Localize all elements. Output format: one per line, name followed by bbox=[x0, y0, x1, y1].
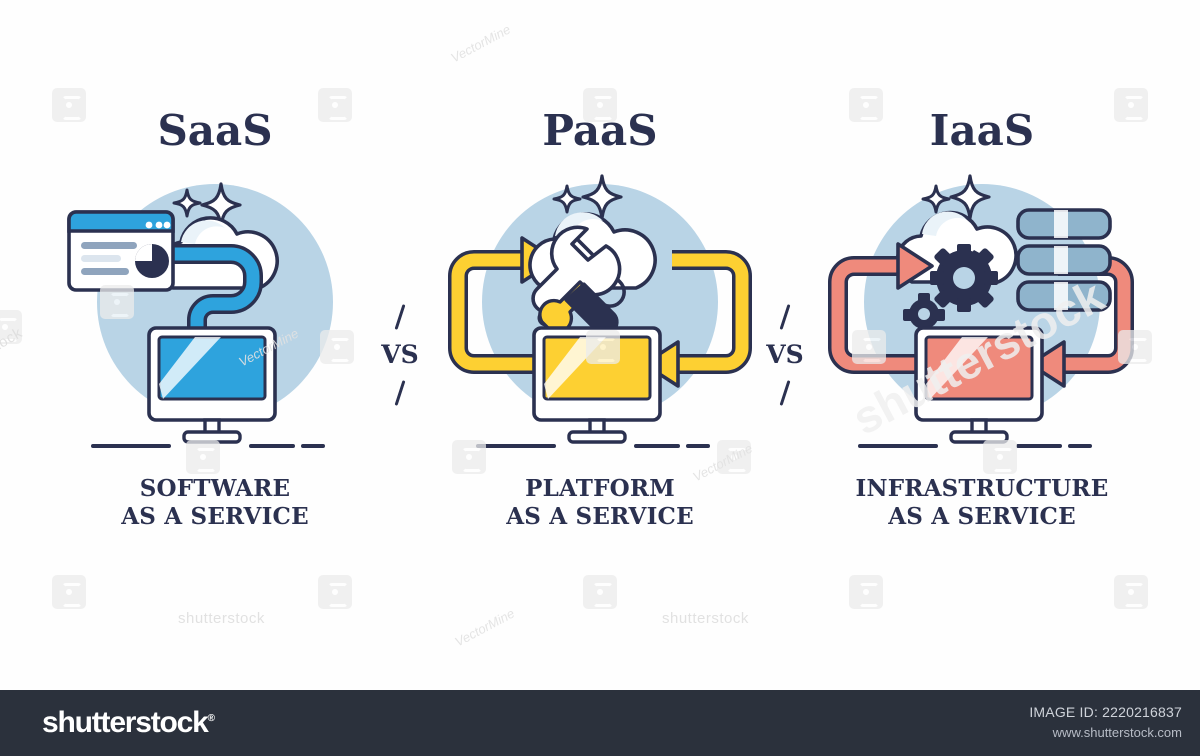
website-url: www.shutterstock.com bbox=[1029, 725, 1182, 740]
caption-line-2: AS A SERVICE bbox=[812, 503, 1152, 531]
diagram-content: SaaS bbox=[0, 0, 1200, 690]
panel-caption-saas: SOFTWARE AS A SERVICE bbox=[45, 475, 385, 531]
panel-caption-paas: PLATFORM AS A SERVICE bbox=[430, 475, 770, 531]
panel-title-iaas: IaaS bbox=[812, 110, 1152, 152]
server-stack-icon bbox=[1018, 210, 1110, 310]
browser-window-icon bbox=[69, 212, 173, 290]
separator-vs-1: VS bbox=[365, 300, 435, 410]
iaas-illustration bbox=[812, 162, 1152, 462]
panel-saas: SaaS bbox=[45, 110, 385, 580]
footer-bar: shutterstock® IMAGE ID: 2220216837 www.s… bbox=[0, 690, 1200, 756]
paas-illustration bbox=[430, 162, 770, 462]
illustration-canvas: SaaS bbox=[0, 0, 1200, 756]
separator-vs-2: VS bbox=[750, 300, 820, 410]
logo-text: shutterstock bbox=[42, 706, 208, 739]
panel-title-paas: PaaS bbox=[430, 110, 770, 152]
saas-illustration bbox=[45, 162, 385, 462]
footer-meta: IMAGE ID: 2220216837 www.shutterstock.co… bbox=[1029, 704, 1182, 740]
panel-title-saas: SaaS bbox=[45, 110, 385, 152]
image-id-label: IMAGE ID: 2220216837 bbox=[1029, 704, 1182, 720]
caption-line-2: AS A SERVICE bbox=[430, 503, 770, 531]
caption-line-2: AS A SERVICE bbox=[45, 503, 385, 531]
caption-line-1: INFRASTRUCTURE bbox=[812, 475, 1152, 503]
shutterstock-logo: shutterstock® bbox=[42, 706, 215, 740]
registered-mark: ® bbox=[208, 713, 215, 724]
caption-line-1: SOFTWARE bbox=[45, 475, 385, 503]
panel-iaas: IaaS bbox=[812, 110, 1152, 580]
caption-line-1: PLATFORM bbox=[430, 475, 770, 503]
panel-caption-iaas: INFRASTRUCTURE AS A SERVICE bbox=[812, 475, 1152, 531]
panel-paas: PaaS bbox=[430, 110, 770, 580]
